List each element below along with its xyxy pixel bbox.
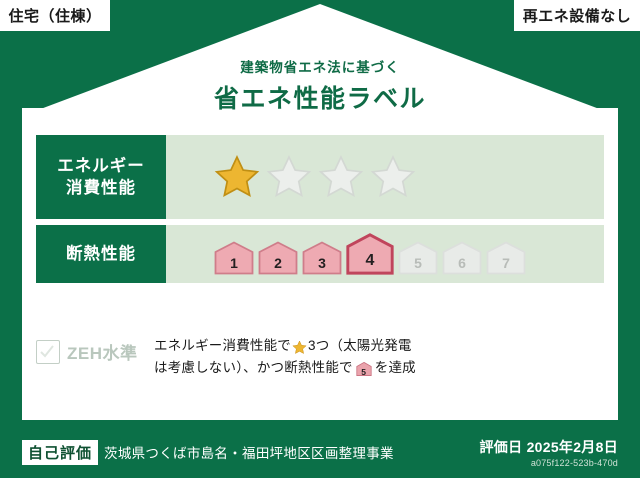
evaluation-meta: 評価日 2025年2月8日 a075f122-523b-470d — [479, 437, 618, 468]
page-title: 建築物省エネ法に基づく 省エネ性能ラベル — [0, 56, 640, 115]
zeh-desc-part4: を達成 — [375, 360, 416, 375]
zeh-label: ZEH水準 — [67, 339, 138, 364]
zeh-mark: ZEH水準 — [36, 335, 154, 364]
energy-head-line2: 消費性能 — [66, 177, 136, 199]
insulation-level-2: 2 — [258, 241, 298, 275]
energy-performance-label: 住宅（住棟） 再エネ設備なし 建築物省エネ法に基づく 省エネ性能ラベル エネルギ… — [0, 0, 640, 478]
insulation-level-number: 2 — [258, 255, 298, 271]
energy-head-line1: エネルギー — [57, 155, 145, 177]
insulation-head-label: 断熱性能 — [66, 243, 136, 265]
insulation-level-5: 5 — [398, 241, 438, 275]
insulation-level-4: 4 — [346, 233, 394, 275]
zeh-description: エネルギー消費性能で3つ（太陽光発電 は考慮しない）、かつ断熱性能で5を達成 — [154, 335, 416, 380]
energy-performance-row: エネルギー 消費性能 — [36, 135, 604, 219]
star-icon-empty — [266, 154, 312, 200]
insulation-level-number: 1 — [214, 255, 254, 271]
property-address: 茨城県つくば市島名・福田坪地区区画整理事業 — [104, 442, 394, 462]
star-icon-empty — [370, 154, 416, 200]
mini-house-number: 5 — [356, 368, 372, 377]
self-evaluation-badge: 自己評価 — [22, 440, 98, 465]
star-icon-empty — [318, 154, 364, 200]
insulation-performance-row: 断熱性能 1234567 — [36, 225, 604, 283]
title-subtitle: 建築物省エネ法に基づく — [0, 56, 640, 76]
checkbox-unchecked-icon[interactable] — [36, 340, 60, 364]
insulation-level-number: 6 — [442, 255, 482, 271]
label-footer: 自己評価 茨城県つくば市島名・福田坪地区区画整理事業 評価日 2025年2月8日… — [0, 426, 640, 478]
insulation-level-1: 1 — [214, 241, 254, 275]
insulation-level-number: 7 — [486, 255, 526, 271]
title-main: 省エネ性能ラベル — [0, 79, 640, 115]
zeh-desc-part1: エネルギー消費性能で — [154, 338, 291, 353]
evaluation-id: a075f122-523b-470d — [479, 458, 618, 468]
performance-rows: エネルギー 消費性能 断熱性能 1234567 — [36, 135, 604, 289]
zeh-standard-block: ZEH水準 エネルギー消費性能で3つ（太陽光発電 は考慮しない）、かつ断熱性能で… — [36, 335, 604, 380]
mini-house-icon: 5 — [356, 362, 372, 376]
insulation-level-number: 4 — [346, 252, 394, 270]
star-rating — [166, 135, 604, 219]
insulation-level-number: 5 — [398, 255, 438, 271]
star-icon — [292, 340, 307, 355]
star-icon-filled — [214, 154, 260, 200]
insulation-level-number: 3 — [302, 255, 342, 271]
evaluation-date: 評価日 2025年2月8日 — [479, 437, 618, 457]
zeh-desc-part2: 3つ（太陽光発電 — [308, 338, 412, 353]
energy-performance-label-head: エネルギー 消費性能 — [36, 135, 166, 219]
insulation-performance-label-head: 断熱性能 — [36, 225, 166, 283]
zeh-desc-part3: は考慮しない）、かつ断熱性能で — [154, 360, 353, 375]
insulation-level-scale: 1234567 — [214, 233, 530, 275]
insulation-level-6: 6 — [442, 241, 482, 275]
insulation-level-7: 7 — [486, 241, 526, 275]
insulation-level-3: 3 — [302, 241, 342, 275]
